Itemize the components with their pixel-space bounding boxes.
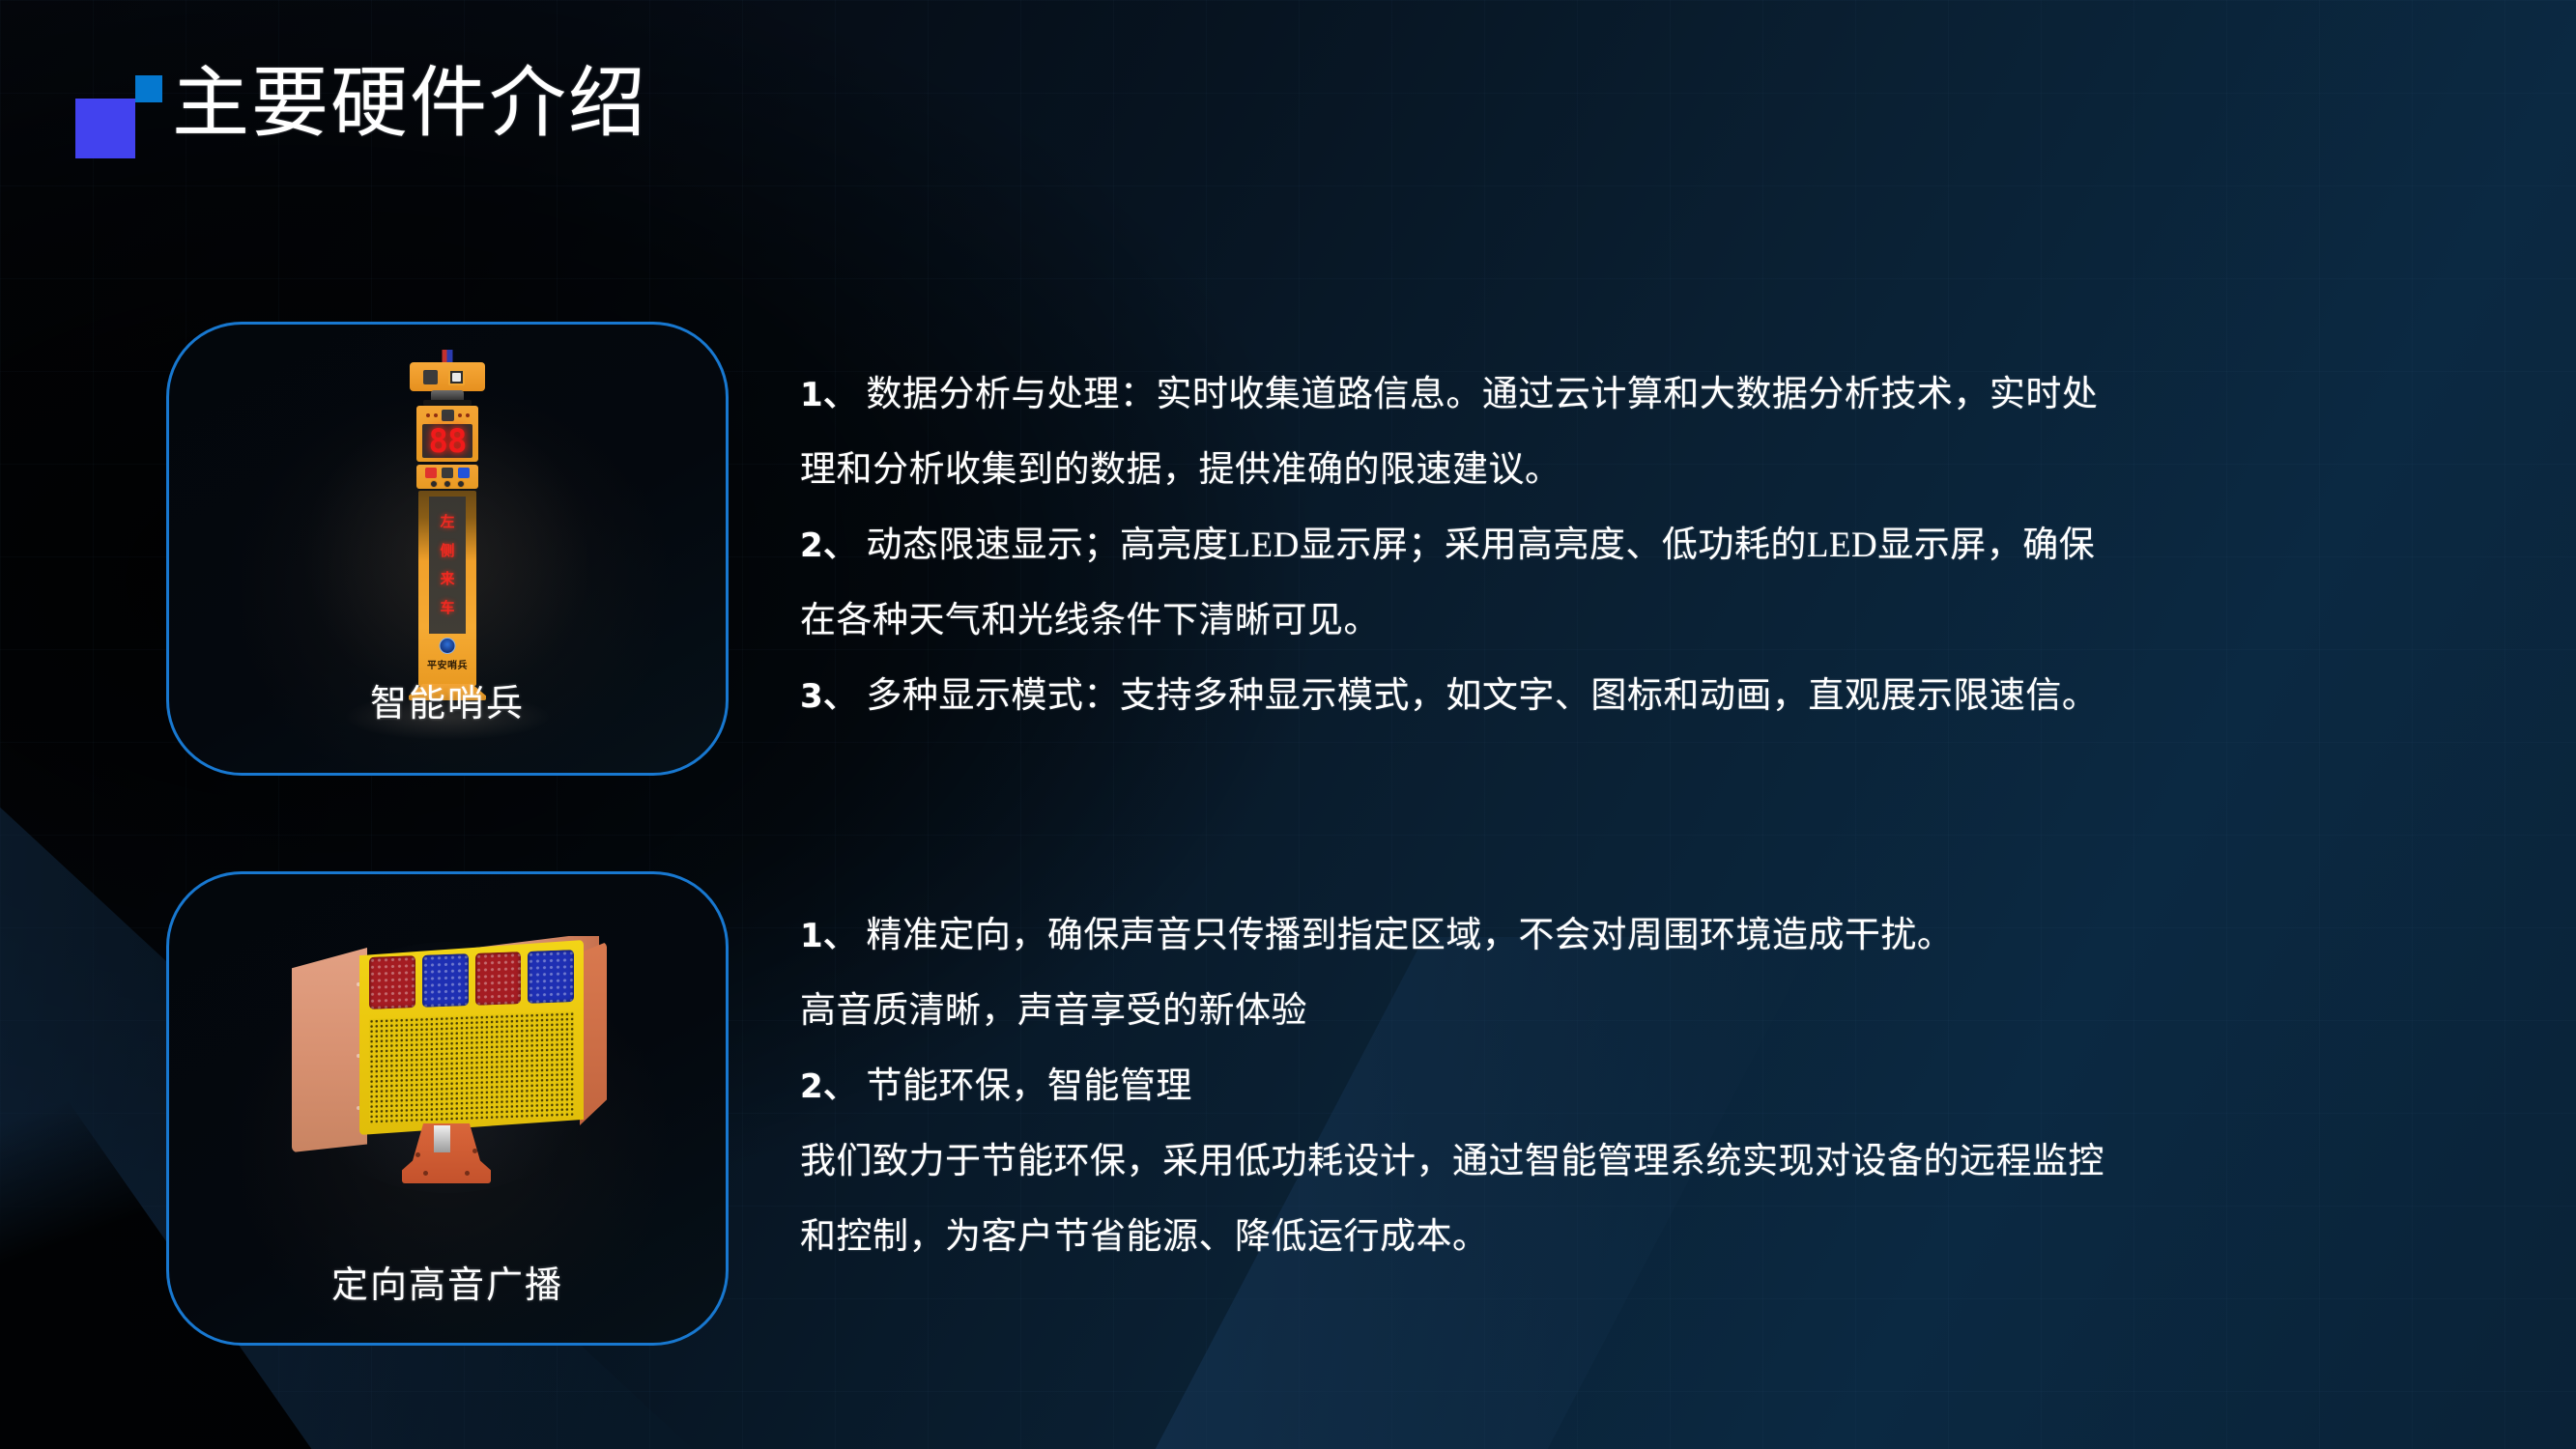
round-lamp-icon — [457, 480, 465, 488]
description-line-text: 在各种天气和光线条件下清晰可见。 — [800, 601, 1380, 640]
police-emblem-icon — [440, 638, 456, 654]
camera-lens-left-icon — [423, 370, 438, 384]
sensor-icon — [442, 468, 453, 478]
round-lamp-icon — [430, 480, 438, 488]
warning-lamp-box — [416, 465, 478, 489]
directional-loudspeaker-device — [288, 934, 607, 1176]
description-line: 和控制，为客户节省能源、降低运行成本。 — [800, 1200, 2510, 1275]
card-caption-loudspeaker: 定向高音广播 — [169, 1255, 726, 1308]
mounting-bracket — [402, 1123, 491, 1183]
lamp-panel-red-icon — [475, 952, 522, 1006]
vertical-char: 车 — [440, 601, 454, 615]
bolt-icon — [423, 1171, 428, 1176]
dot-icon — [466, 413, 470, 417]
hardware-card-sentinel[interactable]: 88 左 侧 来 车 — [166, 322, 729, 776]
description-line: 2、 节能环保，智能管理 — [800, 1049, 2510, 1124]
vertical-char: 左 — [440, 515, 454, 529]
description-line-text: 精准定向，确保声音只传播到指定区域，不会对周围环境造成干扰。 — [857, 916, 1954, 955]
description-line: 2、 动态限速显示；高亮度LED显示屏；采用高亮度、低功耗的LED显示屏，确保 — [800, 508, 2510, 583]
square-large-icon — [75, 99, 135, 158]
speaker-grille — [369, 1011, 574, 1123]
led-lamp-array — [369, 950, 574, 1009]
small-camera-icon — [442, 410, 454, 421]
lamp-row-bottom — [416, 480, 478, 488]
description-line: 3、 多种显示模式：支持多种显示模式，如文字、图标和动画，直观展示限速信。 — [800, 659, 2510, 734]
dot-icon — [426, 413, 430, 417]
description-sentinel: 1、 数据分析与处理：实时收集道路信息。通过云计算和大数据分析技术，实时处理和分… — [800, 357, 2510, 734]
card-caption-sentinel: 智能哨兵 — [169, 673, 726, 726]
dot-icon — [434, 413, 438, 417]
red-lamp-icon — [425, 468, 437, 478]
description-line: 1、 数据分析与处理：实时收集道路信息。通过云计算和大数据分析技术，实时处 — [800, 357, 2510, 433]
led-speed-value: 88 — [429, 425, 467, 458]
list-number: 2、 — [800, 1067, 857, 1106]
description-line: 理和分析收集到的数据，提供准确的限速建议。 — [800, 433, 2510, 508]
speaker-right-edge — [580, 942, 607, 1125]
antenna-icon — [443, 350, 453, 363]
camera-head — [410, 362, 485, 391]
list-number: 2、 — [800, 526, 857, 565]
speed-display-box: 88 — [416, 406, 478, 462]
led-speed-screen: 88 — [422, 424, 472, 458]
description-line-text: 高音质清晰，声音享受的新体验 — [800, 991, 1307, 1031]
title-decoration — [68, 70, 172, 170]
description-line-text: 动态限速显示；高亮度LED显示屏；采用高亮度、低功耗的LED显示屏，确保 — [857, 526, 2096, 565]
description-line-text: 多种显示模式：支持多种显示模式，如文字、图标和动画，直观展示限速信。 — [857, 676, 2099, 716]
square-small-icon — [135, 75, 162, 102]
lamp-panel-blue-icon — [422, 953, 469, 1008]
slide-title-row: 主要硬件介绍 — [68, 70, 647, 170]
description-line-text: 和控制，为客户节省能源、降低运行成本。 — [800, 1217, 1489, 1257]
description-loudspeaker: 1、 精准定向，确保声音只传播到指定区域，不会对周围环境造成干扰。高音质清晰，声… — [800, 898, 2510, 1275]
round-lamp-icon — [444, 480, 451, 488]
lamp-row-top — [416, 468, 478, 478]
description-line: 在各种天气和光线条件下清晰可见。 — [800, 583, 2510, 659]
pole-body: 左 侧 来 车 平安哨兵 — [418, 491, 476, 686]
speaker-side-housing — [292, 948, 367, 1152]
smart-sentinel-device: 88 左 侧 来 车 — [406, 350, 489, 726]
description-line-text: 节能环保，智能管理 — [857, 1066, 1192, 1106]
bolt-icon — [465, 1171, 470, 1176]
page-title: 主要硬件介绍 — [172, 66, 647, 143]
indicator-dots — [416, 410, 478, 421]
lamp-panel-red-icon — [369, 955, 415, 1009]
device-brand-label: 平安哨兵 — [418, 657, 476, 671]
slide-canvas: 主要硬件介绍 88 — [0, 0, 2576, 1449]
bolt-icon — [415, 1152, 420, 1157]
lamp-panel-blue-icon — [528, 950, 574, 1004]
description-line-text: 我们致力于节能环保，采用低功耗设计，通过智能管理系统实现对设备的远程监控 — [800, 1142, 2104, 1181]
description-line: 1、 精准定向，确保声音只传播到指定区域，不会对周围环境造成干扰。 — [800, 898, 2510, 974]
hardware-card-loudspeaker[interactable]: 定向高音广播 — [166, 871, 729, 1346]
vertical-char: 来 — [440, 572, 454, 586]
description-line-text: 理和分析收集到的数据，提供准确的限速建议。 — [800, 450, 1561, 490]
list-number: 1、 — [800, 917, 857, 955]
description-line-text: 数据分析与处理：实时收集道路信息。通过云计算和大数据分析技术，实时处 — [857, 375, 2099, 414]
list-number: 1、 — [800, 376, 857, 414]
list-number: 3、 — [800, 677, 857, 716]
description-line: 高音质清晰，声音享受的新体验 — [800, 974, 2510, 1049]
speaker-front-face — [359, 940, 584, 1135]
vertical-message-screen: 左 侧 来 车 — [429, 497, 466, 634]
dot-icon — [458, 413, 462, 417]
description-line: 我们致力于节能环保，采用低功耗设计，通过智能管理系统实现对设备的远程监控 — [800, 1124, 2510, 1200]
bolt-icon — [472, 1149, 477, 1153]
vertical-char: 侧 — [440, 544, 454, 558]
camera-lens-right-icon — [448, 369, 465, 385]
blue-lamp-icon — [458, 468, 470, 478]
